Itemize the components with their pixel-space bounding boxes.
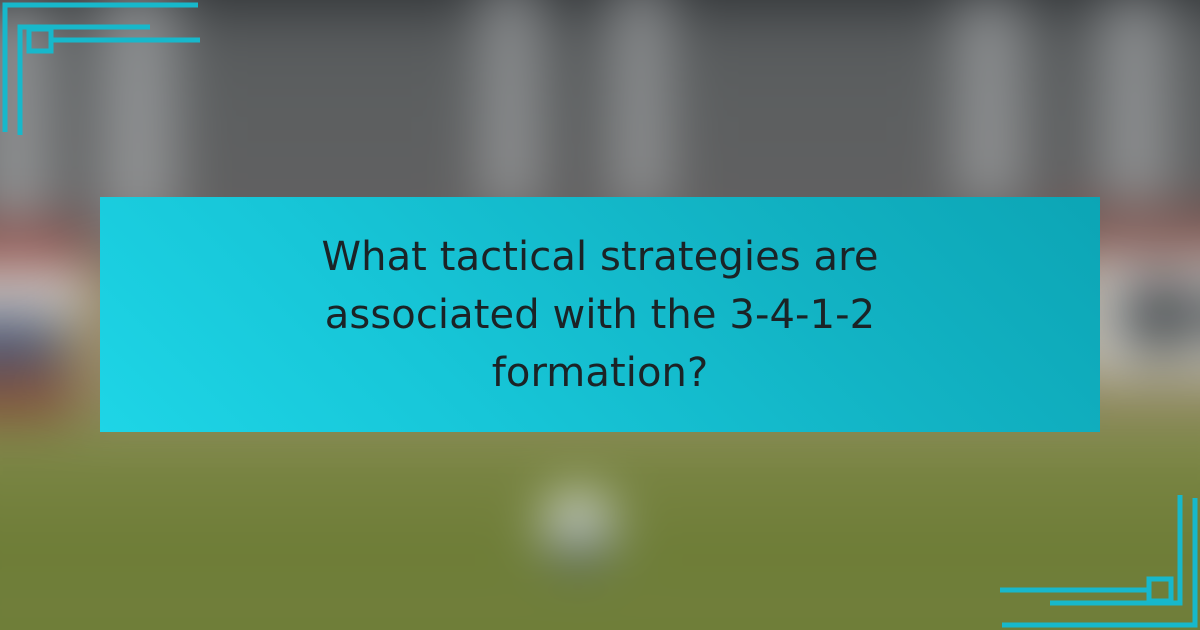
stand-pillar: [481, 0, 539, 210]
ad-board: [0, 263, 85, 323]
stand-pillar: [98, 0, 177, 225]
question-card: What tactical strategies are associated …: [0, 0, 1200, 630]
ad-board-logo: [1115, 278, 1200, 353]
stand-pillar: [0, 0, 52, 225]
stand-pillar: [613, 0, 668, 210]
headline-banner: What tactical strategies are associated …: [100, 197, 1100, 432]
stand-pillar: [1102, 0, 1168, 203]
headline-text: What tactical strategies are associated …: [220, 228, 980, 402]
stand-pillar: [956, 0, 1022, 203]
ad-board: [0, 368, 72, 421]
soccer-ball-patch: [555, 536, 600, 562]
grass-mow-stripe: [0, 570, 1200, 630]
pitch-touchline: [0, 439, 1200, 447]
ad-board: [0, 315, 59, 375]
